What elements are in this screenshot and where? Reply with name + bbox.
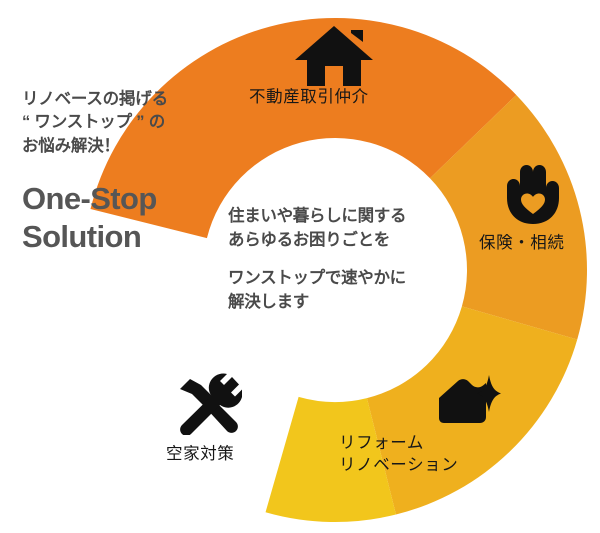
center-paragraph-one: 住まいや暮らしに関する あらゆるお困りごとを [228,204,448,252]
center-paragraph-two: ワンストップで速やかに 解決します [228,266,448,314]
house-sparkle-icon [436,372,502,433]
segment-label-insurance: 保険・相続 [479,232,565,254]
hammer-wrench-icon [174,373,242,440]
segment-label-akiya-line-1: 空家対策 [166,443,234,465]
lead-line-2: “ ワンストップ ” の [22,111,237,134]
center-para2-line-2: 解決します [228,290,448,314]
center-para1-line-1: 住まいや暮らしに関する [228,204,448,228]
center-para2-line-1: ワンストップで速やかに [228,266,448,290]
segment-label-real-estate-line-1: 不動産取引仲介 [249,86,369,108]
lead-line-1: リノベースの掲げる [22,88,237,111]
segment-label-reform: リフォーム リノベーション [339,432,458,477]
segment-label-insurance-line-1: 保険・相続 [479,232,565,254]
segment-label-real-estate: 不動産取引仲介 [249,86,369,108]
lead-line-3: お悩み解決！ [22,135,237,158]
hand-heart-icon [499,162,561,231]
segment-label-akiya: 空家対策 [166,443,234,465]
infographic-canvas: リノベースの掲げる “ ワンストップ ” の お悩み解決！ One-Stop S… [0,0,600,533]
headline-line-2: Solution [22,218,237,256]
center-para1-line-2: あらゆるお困りごとを [228,228,448,252]
segment-label-reform-line-1: リフォーム [339,432,458,454]
left-copy-block: リノベースの掲げる “ ワンストップ ” の お悩み解決！ One-Stop S… [22,88,237,256]
headline-line-1: One-Stop [22,180,237,218]
house-icon [293,24,375,93]
segment-label-reform-line-2: リノベーション [339,454,458,476]
page-title: One-Stop Solution [22,180,237,256]
center-copy-block: 住まいや暮らしに関する あらゆるお困りごとを ワンストップで速やかに 解決します [228,204,448,314]
